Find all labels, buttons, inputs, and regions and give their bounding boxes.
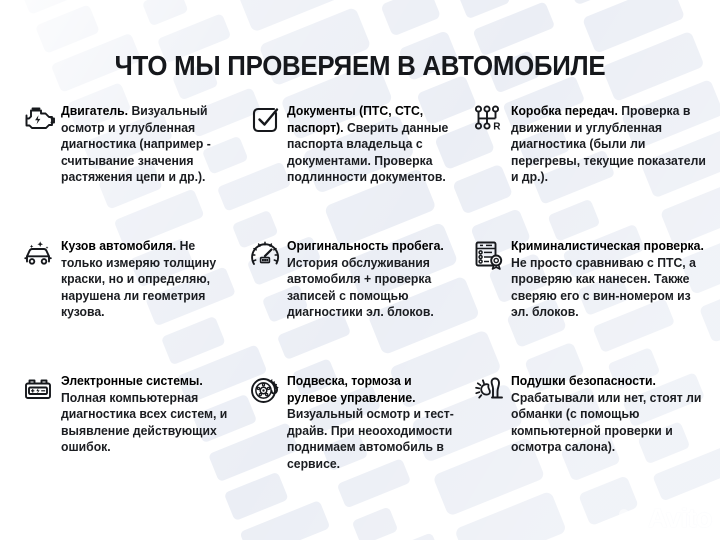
engine-icon: [22, 104, 56, 138]
infographic-page: ЧТО МЫ ПРОВЕРЯЕМ В АВТОМОБИЛЕ Двигатель.…: [0, 0, 720, 540]
airbag-icon: [472, 374, 506, 408]
checklist-item-gearbox: R Коробка передач. Проверка в движении и…: [470, 103, 720, 238]
checklist-item-criminalistic: Криминалистическая проверка. Не просто с…: [470, 238, 720, 373]
checklist-item-title: Коробка передач.: [511, 104, 618, 118]
checklist-item-body: Не просто сравниваю с ПТС, а проверяю ка…: [511, 256, 696, 320]
checklist-item-text: Документы (ПТС, СТС, паспорт). Сверить д…: [287, 103, 459, 186]
checklist-item-engine: Двигатель. Визуальный осмотр и углубленн…: [0, 103, 240, 238]
checklist-item-electronics: Электронные системы. Полная компьютерная…: [0, 373, 240, 508]
checklist-item-text: Коробка передач. Проверка в движении и у…: [511, 103, 708, 186]
checklist-item-body: История обслуживания автомобиля + провер…: [287, 256, 434, 320]
checklist-item-text: Двигатель. Визуальный осмотр и углубленн…: [61, 103, 229, 186]
checklist-item-title: Подушки безопасности.: [511, 374, 656, 388]
battery-icon: [22, 374, 56, 408]
checklist-item-odometer: Оригинальность пробега. История обслужив…: [240, 238, 470, 373]
checklist-item-title: Оригинальность пробега.: [287, 239, 444, 253]
checklist-item-documents: Документы (ПТС, СТС, паспорт). Сверить д…: [240, 103, 470, 238]
checklist-item-text: Подвеска, тормоза и рулевое управление. …: [287, 373, 459, 473]
checklist-item-text: Криминалистическая проверка. Не просто с…: [511, 238, 708, 321]
checklist-item-title: Криминалистическая проверка.: [511, 239, 704, 253]
checklist-item-text: Электронные системы. Полная компьютерная…: [61, 373, 229, 456]
checklist-item-title: Электронные системы.: [61, 374, 203, 388]
checklist-item-body: Визуальный осмотр и тест-драйв. При неоо…: [287, 407, 454, 471]
checklist-grid: Двигатель. Визуальный осмотр и углубленн…: [0, 103, 720, 508]
gear-shifter-icon: R: [472, 104, 506, 138]
checklist-item-car-body: Кузов автомобиля. Не только измеряю толщ…: [0, 238, 240, 373]
checklist-item-airbags: Подушки безопасности. Срабатывали или не…: [470, 373, 720, 508]
checklist-item-title: Подвеска, тормоза и рулевое управление.: [287, 374, 416, 405]
page-title: ЧТО МЫ ПРОВЕРЯЕМ В АВТОМОБИЛЕ: [22, 50, 699, 82]
checklist-item-body: Срабатывали или нет, стоят ли обманки (с…: [511, 391, 701, 455]
checklist-item-body: Полная компьютерная диагностика всех сис…: [61, 391, 227, 455]
svg-text:R: R: [493, 121, 501, 132]
checklist-item-text: Оригинальность пробега. История обслужив…: [287, 238, 459, 321]
car-body-icon: [22, 239, 56, 273]
certificate-seal-icon: [472, 239, 506, 273]
checklist-item-suspension-brakes: Подвеска, тормоза и рулевое управление. …: [240, 373, 470, 508]
brake-disc-icon: [248, 374, 282, 408]
checklist-item-text: Подушки безопасности. Срабатывали или не…: [511, 373, 708, 456]
checklist-item-text: Кузов автомобиля. Не только измеряю толщ…: [61, 238, 229, 321]
odometer-icon: [248, 239, 282, 273]
checkbox-check-icon: [248, 104, 282, 138]
checklist-item-title: Кузов автомобиля.: [61, 239, 176, 253]
checklist-item-title: Двигатель.: [61, 104, 128, 118]
